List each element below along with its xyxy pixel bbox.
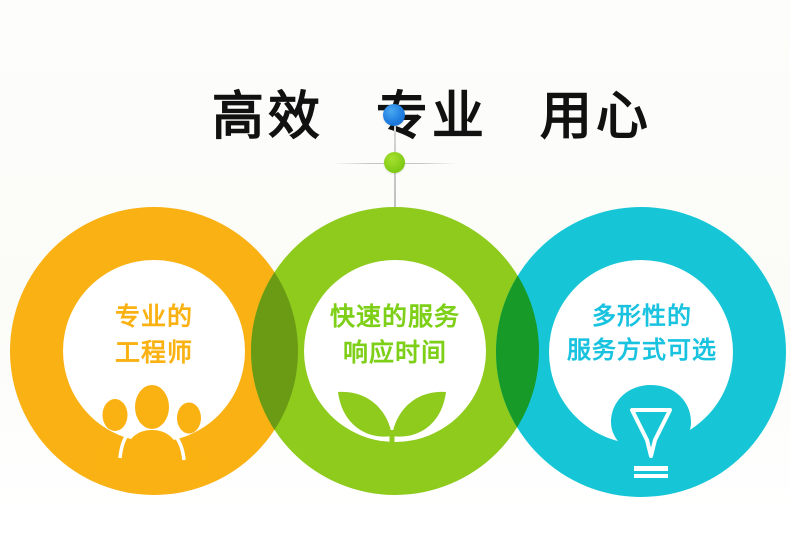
- circle-green-label: 快速的服务 响应时间: [275, 300, 515, 371]
- green-dot-icon: [384, 152, 405, 173]
- circle-orange-label: 专业的 工程师: [34, 300, 274, 371]
- blue-dot-icon: [383, 104, 405, 126]
- headline-word-1: 高效: [212, 88, 324, 148]
- promo-banner: 高效专业用心: [0, 0, 790, 557]
- circle-cyan-label: 多形性的 服务方式可选: [516, 300, 768, 368]
- headline-word-3: 用心: [540, 88, 652, 148]
